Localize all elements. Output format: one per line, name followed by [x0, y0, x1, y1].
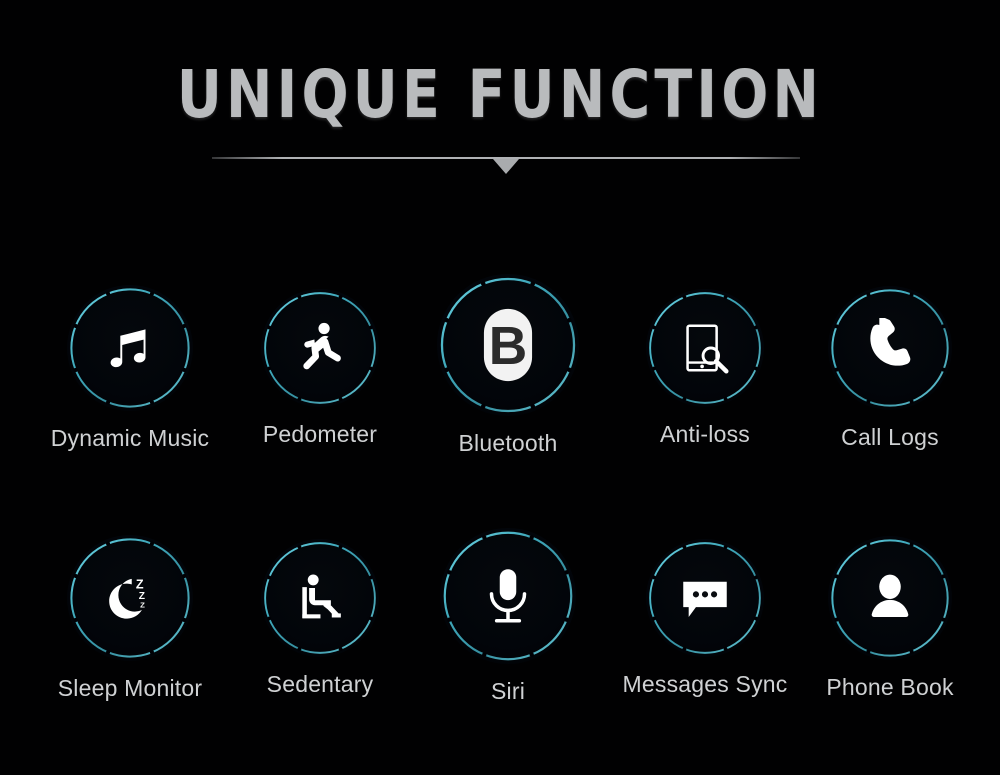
feature-label: Dynamic Music	[20, 425, 240, 452]
music-note-icon	[67, 285, 193, 411]
svg-text:Z: Z	[136, 577, 144, 591]
feature-label: Call Logs	[780, 424, 1000, 451]
feature-label: Sedentary	[210, 671, 430, 698]
seated-person-icon	[261, 539, 379, 657]
feature-item-pedometer[interactable]: Pedometer	[210, 289, 430, 448]
feature-disc	[828, 286, 952, 410]
person-bust-icon	[828, 536, 952, 660]
feature-item-phone-book[interactable]: Phone Book	[780, 536, 1000, 701]
phone-search-icon	[646, 289, 764, 407]
feature-disc: Z Z Z	[67, 535, 193, 661]
feature-item-sedentary[interactable]: Sedentary	[210, 539, 430, 698]
feature-grid: Dynamic Music Pedometer B	[0, 0, 1000, 775]
svg-text:B: B	[489, 317, 528, 376]
feature-label: Sleep Monitor	[20, 675, 240, 702]
running-person-icon	[261, 289, 379, 407]
feature-label: Phone Book	[780, 674, 1000, 701]
feature-disc	[828, 536, 952, 660]
chat-bubble-icon	[646, 539, 764, 657]
feature-label: Pedometer	[210, 421, 430, 448]
feature-disc	[261, 289, 379, 407]
feature-disc: B	[437, 274, 579, 416]
feature-disc	[440, 528, 576, 664]
feature-item-siri[interactable]: Siri	[398, 528, 618, 705]
feature-item-sleep-monitor[interactable]: Z Z Z Sleep Monitor	[20, 535, 240, 702]
feature-disc	[646, 539, 764, 657]
svg-text:Z: Z	[140, 601, 145, 610]
feature-label: Siri	[398, 678, 618, 705]
feature-item-dynamic-music[interactable]: Dynamic Music	[20, 285, 240, 452]
moon-zzz-icon: Z Z Z	[67, 535, 193, 661]
feature-item-bluetooth[interactable]: B Bluetooth	[398, 274, 618, 457]
feature-disc	[261, 539, 379, 657]
microphone-icon	[440, 528, 576, 664]
feature-item-call-logs[interactable]: Call Logs	[780, 286, 1000, 451]
feature-label: Bluetooth	[398, 430, 618, 457]
feature-disc	[67, 285, 193, 411]
bluetooth-b-icon: B	[437, 274, 579, 416]
feature-disc	[646, 289, 764, 407]
phone-handset-icon	[828, 286, 952, 410]
